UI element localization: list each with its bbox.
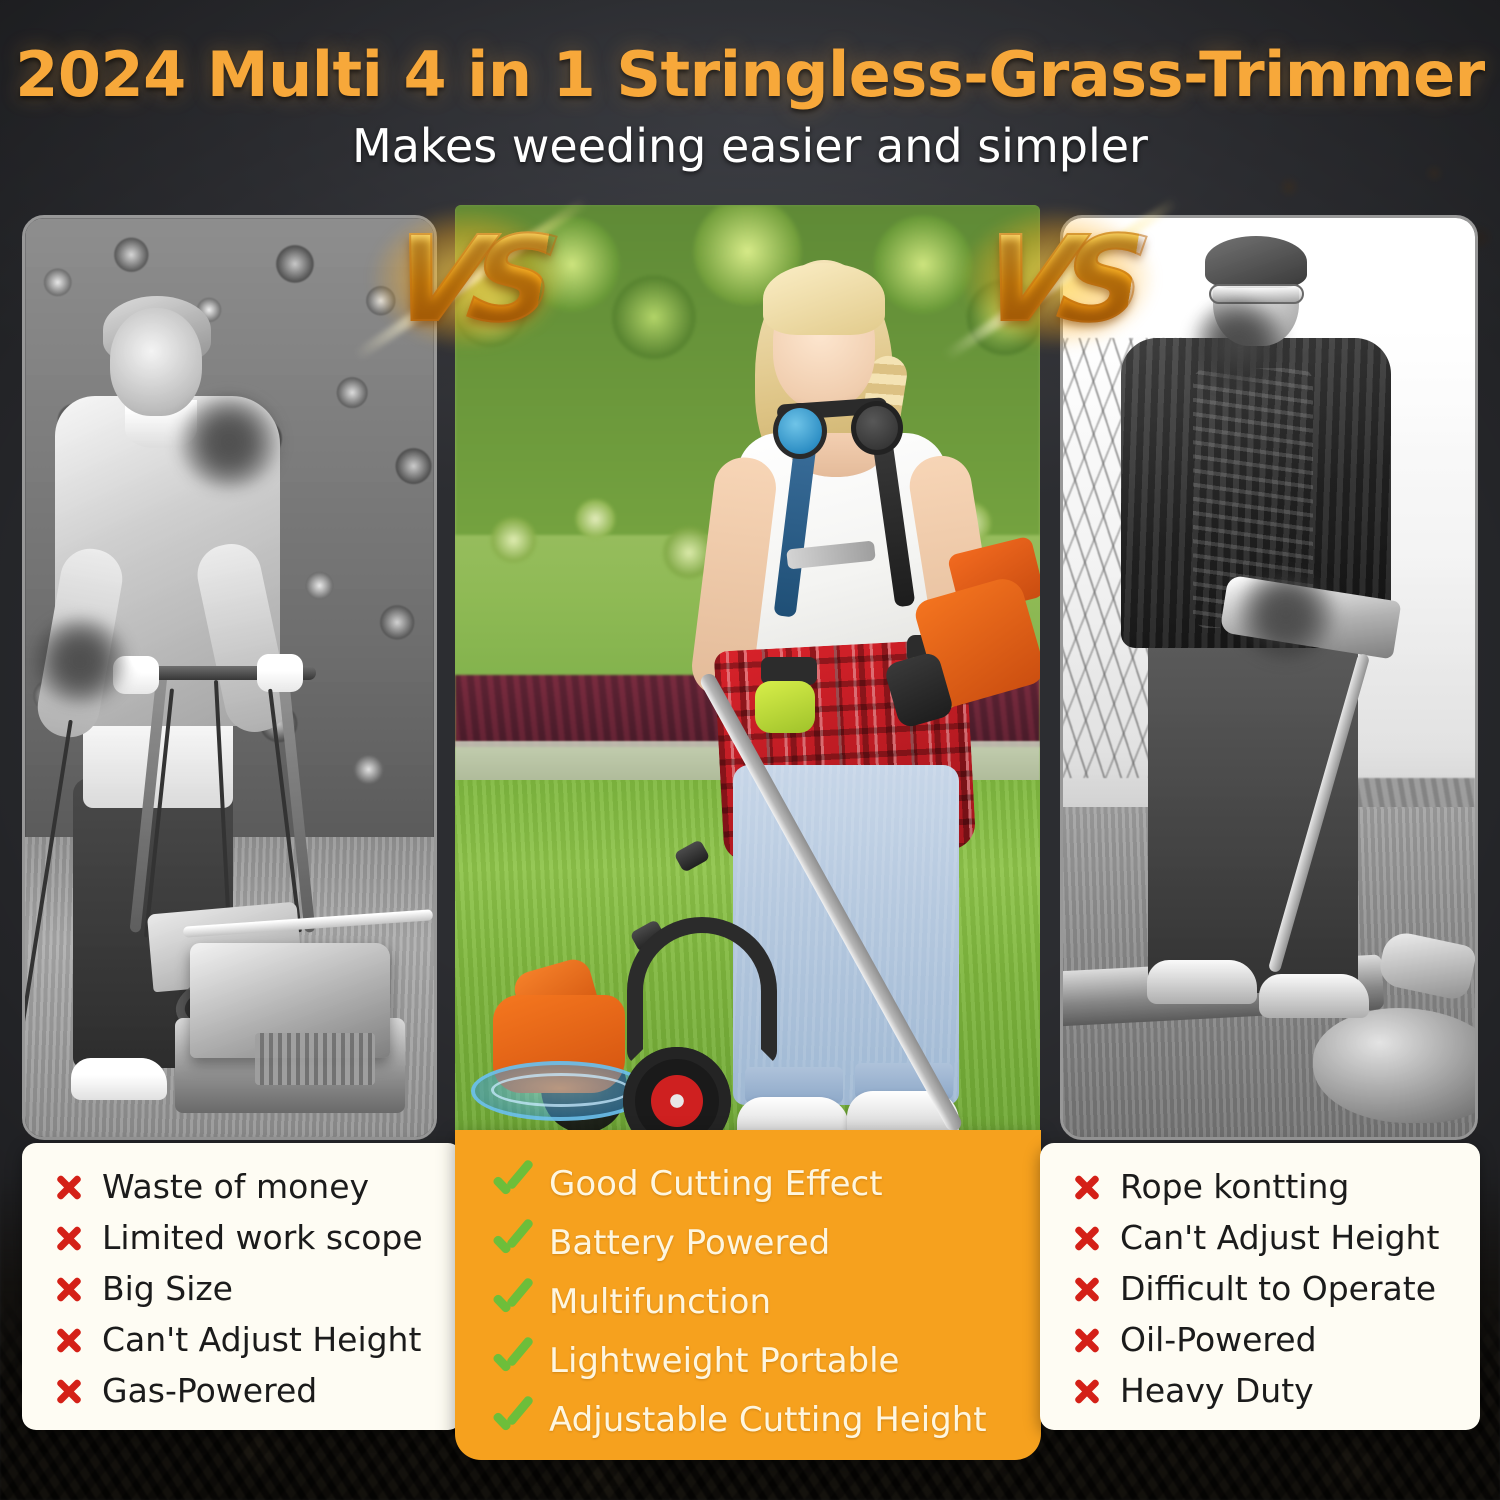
cross-icon <box>1070 1170 1104 1204</box>
check-icon <box>489 1341 533 1381</box>
vs-badge-right: VS <box>958 186 1158 371</box>
list-item: Rope kontting <box>1070 1161 1480 1212</box>
mower-engine-vents <box>255 1033 375 1085</box>
feature-label: Heavy Duty <box>1120 1371 1314 1410</box>
person-head <box>110 308 202 416</box>
feature-card-left: Waste of money Limited work scope Big Si… <box>22 1143 462 1430</box>
man-shoe-left <box>1147 960 1257 1004</box>
page-title: 2024 Multi 4 in 1 Stringless-Grass-Trimm… <box>0 38 1500 111</box>
feature-list-left: Waste of money Limited work scope Big Si… <box>22 1143 462 1416</box>
trimmer-wheel-hub <box>651 1075 703 1127</box>
feature-label: Adjustable Cutting Height <box>549 1400 987 1440</box>
list-item: Good Cutting Effect <box>489 1154 1041 1213</box>
list-item: Waste of money <box>52 1161 462 1212</box>
check-icon <box>489 1164 533 1204</box>
feature-label: Multifunction <box>549 1282 771 1322</box>
feature-label: Oil-Powered <box>1120 1320 1317 1359</box>
page-subtitle: Makes weeding easier and simpler <box>0 119 1500 173</box>
feature-label: Waste of money <box>102 1167 369 1206</box>
man-trousers <box>1148 633 1358 993</box>
feature-label: Can't Adjust Height <box>102 1320 421 1359</box>
cross-icon <box>52 1272 86 1306</box>
ear-protection-left <box>773 403 827 459</box>
feature-list-right: Rope kontting Can't Adjust Height Diffic… <box>1040 1143 1480 1416</box>
feature-label: Can't Adjust Height <box>1120 1218 1439 1257</box>
list-item: Oil-Powered <box>1070 1314 1480 1365</box>
woman-hair-top <box>763 263 885 335</box>
man-shoe-right <box>1259 974 1369 1018</box>
pain-marker-arm <box>1235 568 1337 660</box>
list-item: Big Size <box>52 1263 462 1314</box>
vs-label-left: VS <box>383 210 553 348</box>
feature-list-center: Good Cutting Effect Battery Powered Mult… <box>455 1130 1041 1449</box>
pain-marker-shoulder <box>1191 300 1287 386</box>
cross-icon <box>1070 1374 1104 1408</box>
cross-icon <box>1070 1221 1104 1255</box>
pain-marker-hand <box>31 618 129 704</box>
feature-label: Limited work scope <box>102 1218 423 1257</box>
cross-icon <box>1070 1272 1104 1306</box>
feature-card-right: Rope kontting Can't Adjust Height Diffic… <box>1040 1143 1480 1430</box>
check-icon <box>489 1400 533 1440</box>
vs-label-right: VS <box>973 210 1143 348</box>
feature-label: Gas-Powered <box>102 1371 317 1410</box>
list-item: Can't Adjust Height <box>1070 1212 1480 1263</box>
trimmer-blade-disc <box>491 1073 631 1107</box>
list-item: Limited work scope <box>52 1212 462 1263</box>
list-item: Adjustable Cutting Height <box>489 1390 1041 1449</box>
safety-goggles <box>1209 284 1304 304</box>
feature-card-center: Good Cutting Effect Battery Powered Mult… <box>455 1130 1041 1460</box>
cross-icon <box>52 1170 86 1204</box>
cross-icon <box>52 1323 86 1357</box>
feature-label: Big Size <box>102 1269 233 1308</box>
list-item: Multifunction <box>489 1272 1041 1331</box>
feature-label: Good Cutting Effect <box>549 1164 883 1204</box>
header: 2024 Multi 4 in 1 Stringless-Grass-Trimm… <box>0 0 1500 173</box>
person-shoe <box>71 1058 167 1100</box>
cross-icon <box>1070 1323 1104 1357</box>
wheel-support-arm <box>627 917 777 1065</box>
cross-icon <box>52 1221 86 1255</box>
feature-label: Rope kontting <box>1120 1167 1349 1206</box>
cross-icon <box>52 1374 86 1408</box>
person-glove-right <box>257 654 303 692</box>
list-item: Difficult to Operate <box>1070 1263 1480 1314</box>
feature-label: Lightweight Portable <box>549 1341 899 1381</box>
feature-label: Battery Powered <box>549 1223 830 1263</box>
work-glove-left <box>755 681 815 733</box>
list-item: Gas-Powered <box>52 1365 462 1416</box>
list-item: Battery Powered <box>489 1213 1041 1272</box>
feature-label: Difficult to Operate <box>1120 1269 1436 1308</box>
man-hair <box>1205 236 1307 288</box>
list-item: Can't Adjust Height <box>52 1314 462 1365</box>
list-item: Lightweight Portable <box>489 1331 1041 1390</box>
list-item: Heavy Duty <box>1070 1365 1480 1416</box>
check-icon <box>489 1282 533 1322</box>
vs-badge-left: VS <box>368 186 568 371</box>
ear-protection-right <box>851 401 903 455</box>
pain-marker-shoulder <box>177 396 281 488</box>
check-icon <box>489 1223 533 1263</box>
